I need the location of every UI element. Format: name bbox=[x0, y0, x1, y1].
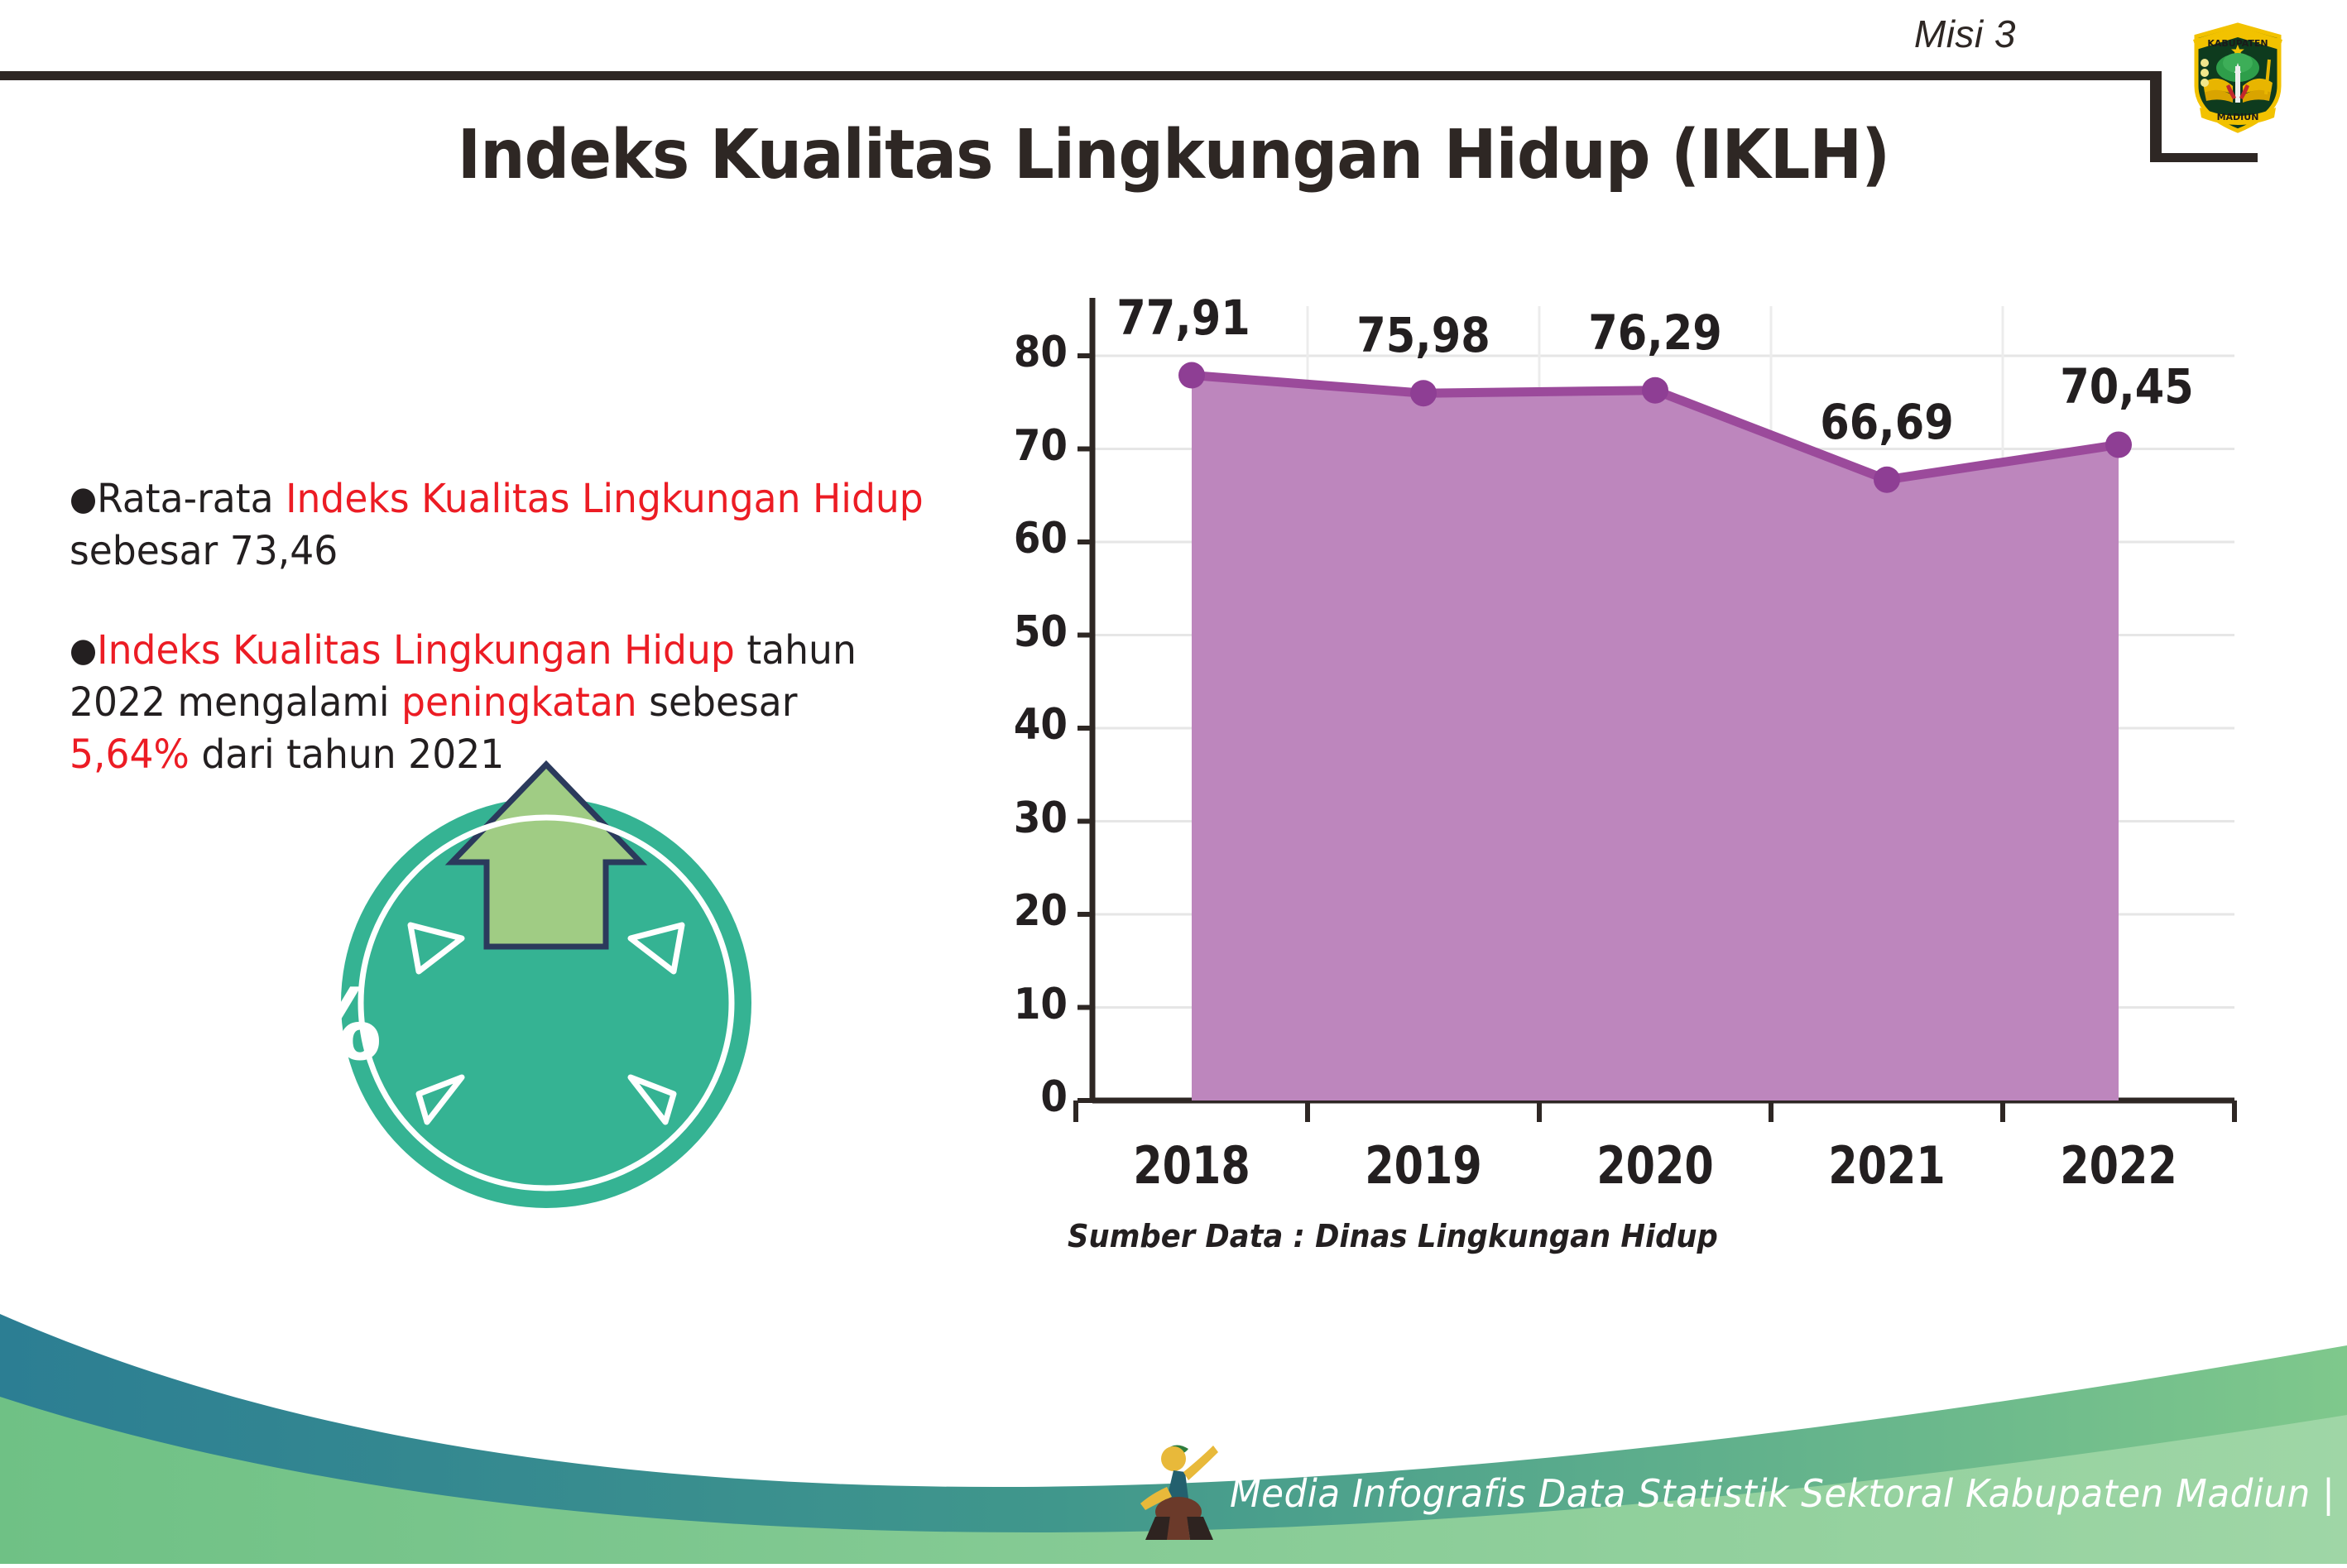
y-axis-tick-label: 40 bbox=[978, 700, 1068, 750]
x-axis-tick-label: 2018 bbox=[1117, 1135, 1266, 1196]
dancer-figure-icon bbox=[1137, 1436, 1223, 1543]
y-axis-tick-label: 50 bbox=[978, 607, 1068, 657]
highlighted-phrase: peningkatan bbox=[401, 679, 637, 726]
highlighted-phrase: Indeks Kualitas Lingkungan Hidup bbox=[286, 476, 924, 522]
y-axis-tick-label: 30 bbox=[978, 794, 1068, 843]
y-axis-tick-label: 10 bbox=[978, 980, 1068, 1029]
plain-phrase: Rata-rata bbox=[97, 476, 286, 522]
bullet-text-1: Rata-rata Indeks Kualitas Lingkungan Hid… bbox=[70, 476, 924, 574]
y-axis-tick-label: 60 bbox=[978, 514, 1068, 563]
source-note: Sumber Data : Dinas Lingkungan Hidup bbox=[1068, 1218, 1718, 1254]
plain-phrase: sebesar 73,46 bbox=[70, 528, 338, 574]
data-point-label: 70,45 bbox=[2033, 358, 2222, 415]
y-axis-tick-label: 80 bbox=[978, 328, 1068, 377]
bullet-dot-icon: ● bbox=[70, 480, 97, 518]
page-title: Indeks Kualitas Lingkungan Hidup (IKLH) bbox=[82, 116, 2264, 194]
x-axis-tick-label: 2022 bbox=[2044, 1135, 2193, 1196]
data-point-label: 66,69 bbox=[1793, 394, 1982, 450]
mission-label: Misi 3 bbox=[1914, 12, 2016, 56]
data-point-label: 75,98 bbox=[1329, 307, 1519, 363]
plain-phrase: sebesar bbox=[637, 679, 798, 726]
header-divider-line bbox=[0, 71, 2160, 80]
y-axis-tick-label: 20 bbox=[978, 886, 1068, 936]
iklh-area-chart: 01020304050607080 20182019202020212022 7… bbox=[952, 273, 2292, 1208]
x-axis-tick-label: 2019 bbox=[1349, 1135, 1498, 1196]
data-point-label: 76,29 bbox=[1561, 304, 1750, 361]
list-item: ●Rata-rata Indeks Kualitas Lingkungan Hi… bbox=[70, 473, 927, 578]
x-axis-tick-label: 2021 bbox=[1812, 1135, 1961, 1196]
y-axis-tick-label: 70 bbox=[978, 421, 1068, 471]
y-axis-tick-label: 0 bbox=[978, 1072, 1068, 1122]
highlighted-phrase: Indeks Kualitas Lingkungan Hidup bbox=[97, 627, 735, 674]
footer-caption: Media Infografis Data Statistik Sektoral… bbox=[1230, 1471, 2335, 1516]
chart-area-fill bbox=[1192, 376, 2119, 1100]
bullet-dot-icon: ● bbox=[70, 631, 97, 669]
data-point-label: 77,91 bbox=[1089, 290, 1279, 346]
highlighted-phrase: 5,64% bbox=[70, 731, 190, 778]
x-axis-tick-label: 2020 bbox=[1581, 1135, 1730, 1196]
increase-badge bbox=[331, 755, 761, 1218]
